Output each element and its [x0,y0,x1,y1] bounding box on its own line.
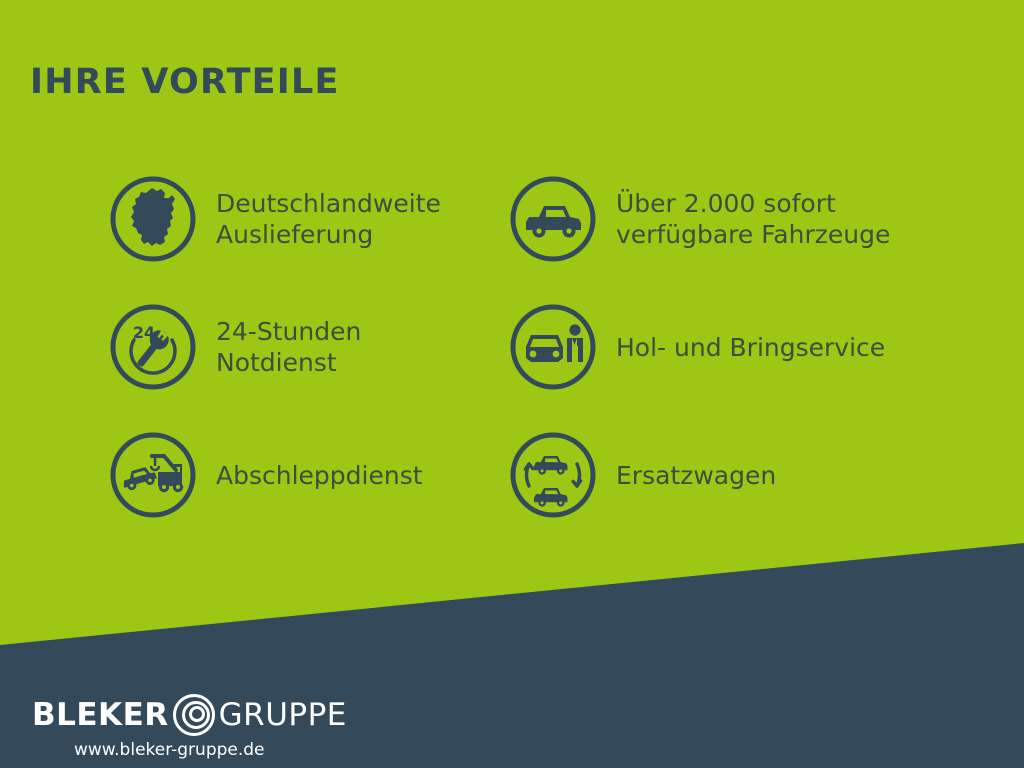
website-url: www.bleker-gruppe.de [74,740,452,760]
benefit-label: 24-Stunden Notdienst [216,316,361,378]
benefit-label: Ersatzwagen [616,460,776,491]
benefits-grid: Deutschlandweite Auslieferung Über 2.000… [108,155,968,539]
benefit-label: Über 2.000 sofort verfügbare Fahrzeuge [616,188,890,250]
car-side-icon [508,174,598,264]
24-hour-wrench-icon: 24 [108,302,198,392]
footer-branding: BLEKER GRUPPE www.bleker-gruppe.de [32,694,452,760]
benefit-item: Deutschlandweite Auslieferung [108,155,508,283]
germany-map-icon [108,174,198,264]
two-cars-swap-icon [508,430,598,520]
car-with-person-icon [508,302,598,392]
benefit-label: Deutschlandweite Auslieferung [216,188,441,250]
benefit-item: Über 2.000 sofort verfügbare Fahrzeuge [508,155,908,283]
benefit-item: Hol- und Bringservice [508,283,908,411]
benefit-item: 24 24-Stunden Notdienst [108,283,508,411]
slide-root: IHRE VORTEILE Deutschlandweite Ausliefer… [0,0,1024,768]
benefit-label: Hol- und Bringservice [616,332,885,363]
brand-name-gruppe: GRUPPE [219,700,347,731]
benefit-item: Abschleppdienst [108,411,508,539]
benefit-item: Ersatzwagen [508,411,908,539]
benefit-label: Abschleppdienst [216,460,423,491]
tow-truck-icon [108,430,198,520]
logo-row: BLEKER GRUPPE [32,694,452,736]
brand-name-bleker: BLEKER [32,700,169,731]
page-title: IHRE VORTEILE [30,62,340,102]
spiral-logo-icon [171,692,217,738]
